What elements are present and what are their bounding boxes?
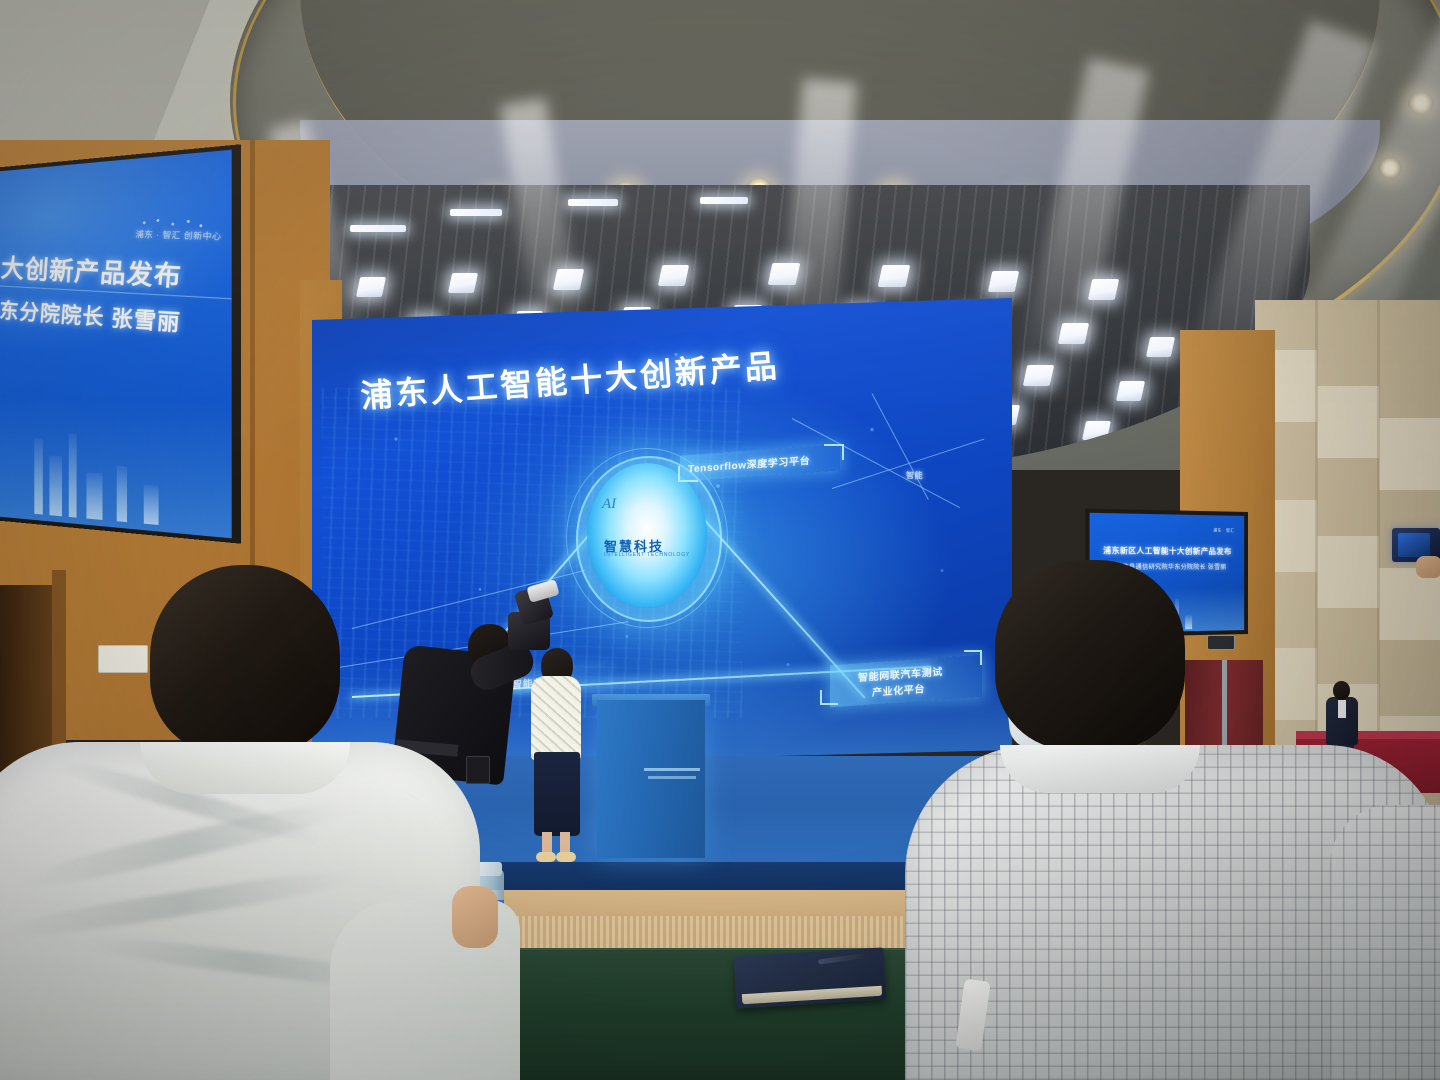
stage-light-bar (450, 209, 502, 216)
acoustic-panel (1317, 536, 1379, 608)
audience-left-hand (452, 886, 498, 948)
stage-spotlight (1116, 381, 1145, 401)
screen-tag-bracket-br (964, 650, 982, 665)
skyline-tower (117, 466, 127, 522)
left-projection-screen-frame: 浦东 · 智汇 创新中心 能十大创新产品发布 安华东分院院长 张雪丽 (0, 144, 241, 543)
right-screen-logo: 浦东 · 智汇 (1213, 527, 1234, 533)
stage-spotlight (768, 263, 801, 285)
stage-spotlight (658, 265, 689, 286)
stage-spotlight (553, 269, 584, 290)
podium-text-line (648, 776, 696, 779)
stage-spotlight (448, 273, 478, 293)
skyline-tower (144, 485, 159, 525)
stage-spotlight (1023, 365, 1054, 386)
left-projection-screen: 浦东 · 智汇 创新中心 能十大创新产品发布 安华东分院院长 张雪丽 (0, 150, 232, 539)
stage-spotlight (1058, 323, 1089, 344)
skyline-tower (69, 434, 77, 518)
hostess-shirt (1338, 700, 1346, 718)
screen-orb-label-en: INTELLIGENT TECHNOLOGY (604, 552, 690, 558)
camera-lcd-screen (1398, 533, 1430, 557)
skyline-tower (34, 438, 43, 514)
audience-left-head (150, 565, 340, 755)
speaker-podium (597, 700, 705, 858)
screen-tag-bracket-top (824, 444, 844, 460)
stage-spotlight (1146, 337, 1175, 357)
right-screen-title: 浦东新区人工智能十大创新产品发布 (1090, 544, 1245, 557)
camera-operator-hand (1416, 556, 1440, 578)
podium-text-line (644, 768, 700, 771)
ceiling-downlight (1408, 92, 1434, 114)
audience-right-shoulder (1330, 805, 1440, 1080)
speaker-shoe (556, 852, 576, 862)
audience-left-collar (140, 742, 350, 794)
no-smoking-sign (98, 645, 148, 673)
acoustic-panel (1379, 418, 1440, 490)
ceiling-downlight (1378, 158, 1402, 178)
press-badge (466, 756, 490, 784)
stage-spotlight (1082, 421, 1111, 440)
acoustic-panel (1379, 568, 1440, 640)
audience-right-collar (1000, 745, 1200, 793)
skyline-tower (1185, 615, 1192, 629)
stage-spotlight (988, 271, 1019, 292)
stage-light-bar (350, 225, 406, 232)
screen-tag-right-small: 智能 (906, 470, 923, 481)
wall-vent-panel (1207, 635, 1235, 650)
stage-spotlight (356, 277, 386, 297)
acoustic-panel (1317, 386, 1379, 458)
stage-light-bar (700, 197, 748, 204)
audience-right-head (995, 560, 1185, 750)
skyline-tower (49, 455, 62, 516)
registration-table-top (1296, 731, 1440, 739)
conference-hall-photo: 浦东 · 智汇 创新中心 能十大创新产品发布 安华东分院院长 张雪丽 AI 智慧… (0, 0, 1440, 1080)
skyline-tower (86, 472, 102, 520)
hostess-head (1333, 681, 1350, 700)
stage-spotlight (878, 265, 911, 287)
speaker-jacket (531, 676, 581, 760)
screen-tag-bracket-bl (820, 690, 838, 705)
stage-light-bar (568, 199, 618, 206)
screen-logo-text: 浦东 · 智汇 创新中心 (135, 229, 222, 243)
speaker-skirt (534, 752, 580, 836)
screen-logo-dots-icon (137, 218, 207, 228)
stage-spotlight (1088, 279, 1119, 300)
speaker-shoe (536, 852, 556, 862)
screen-orb-script: AI (602, 496, 616, 513)
